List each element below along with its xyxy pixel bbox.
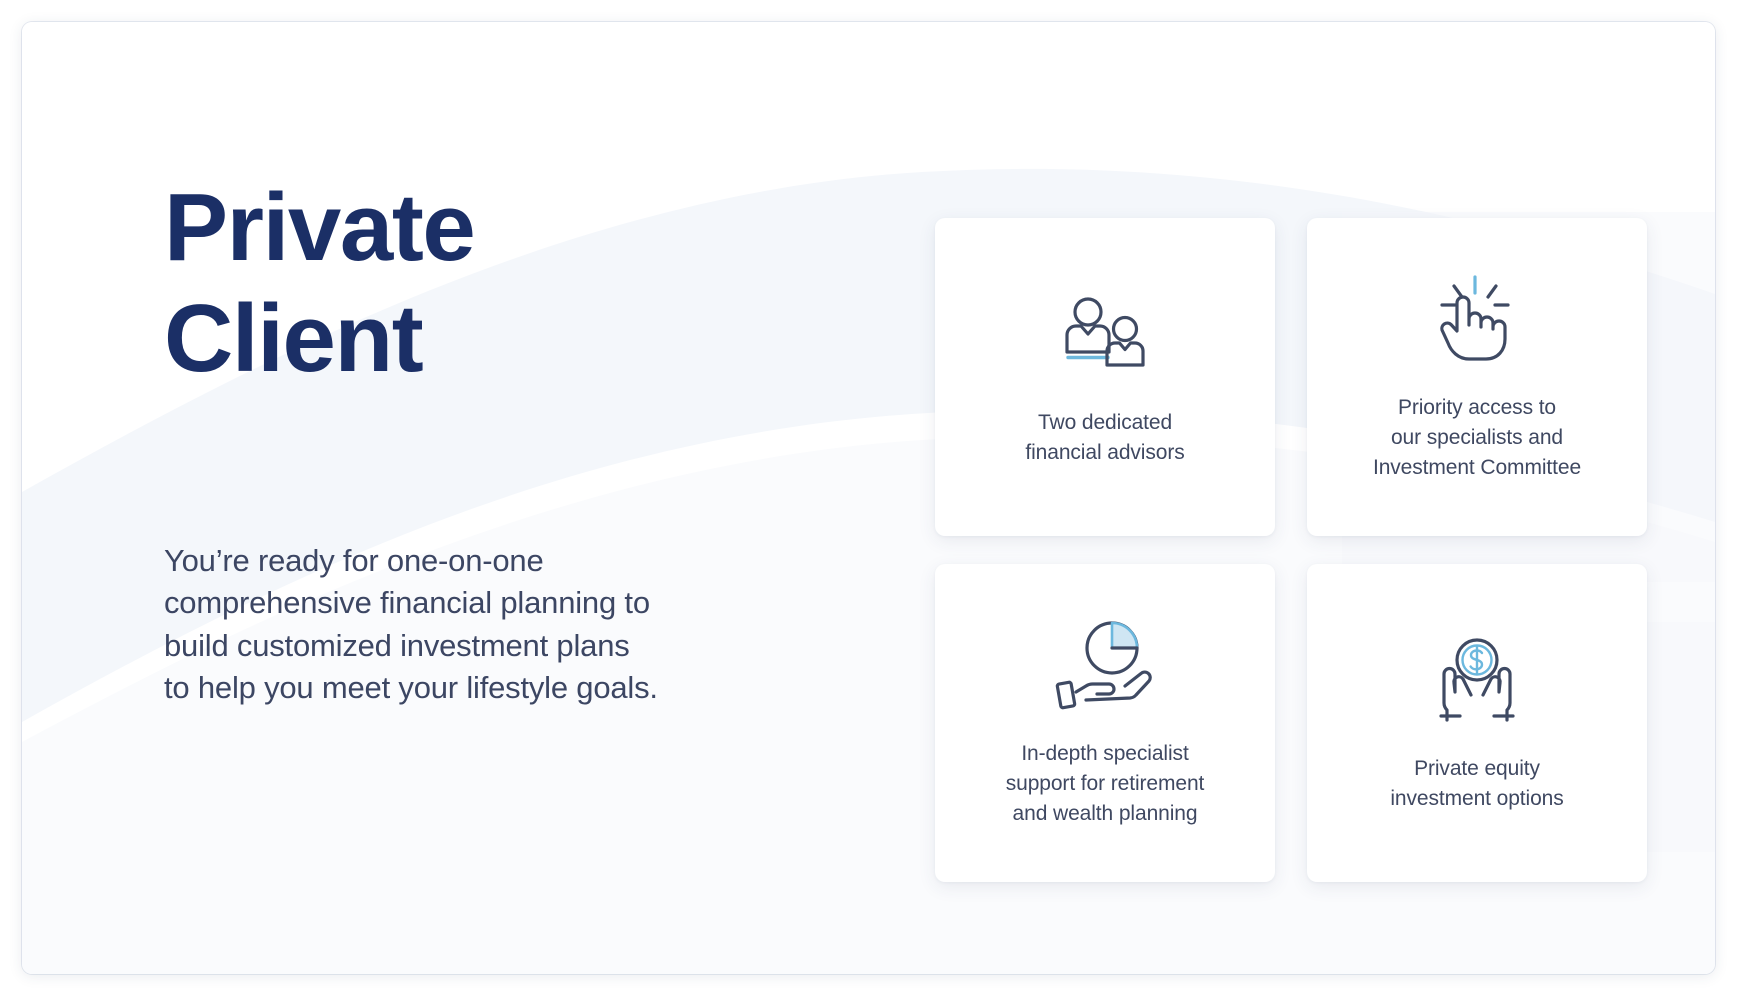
page-title: Private Client xyxy=(164,172,824,395)
benefit-card-label: Two dedicated financial advisors xyxy=(1025,408,1184,468)
hero-text-block: Private Client xyxy=(164,172,824,395)
benefit-card-specialist-support[interactable]: In-depth specialist support for retireme… xyxy=(935,564,1275,882)
benefit-card-two-advisors[interactable]: Two dedicated financial advisors xyxy=(935,218,1275,536)
tap-hand-icon xyxy=(1434,271,1520,367)
benefits-card-grid: Two dedicated financial advisors Priorit… xyxy=(935,218,1647,882)
benefit-card-label: Priority access to our specialists and I… xyxy=(1373,393,1581,482)
slide-card: Private Client You’re ready for one-on-o… xyxy=(22,22,1715,974)
benefit-card-private-equity[interactable]: Private equity investment options xyxy=(1307,564,1647,882)
benefit-card-priority-access[interactable]: Priority access to our specialists and I… xyxy=(1307,218,1647,536)
benefit-card-label: In-depth specialist support for retireme… xyxy=(1006,739,1205,828)
hand-pie-chart-icon xyxy=(1054,617,1156,713)
hero-paragraph: You’re ready for one-on-one comprehensiv… xyxy=(164,540,784,710)
hands-dollar-coin-icon xyxy=(1430,632,1524,728)
two-people-icon xyxy=(1057,286,1153,382)
benefit-card-label: Private equity investment options xyxy=(1390,754,1563,814)
page-root: Private Client You’re ready for one-on-o… xyxy=(0,0,1737,996)
